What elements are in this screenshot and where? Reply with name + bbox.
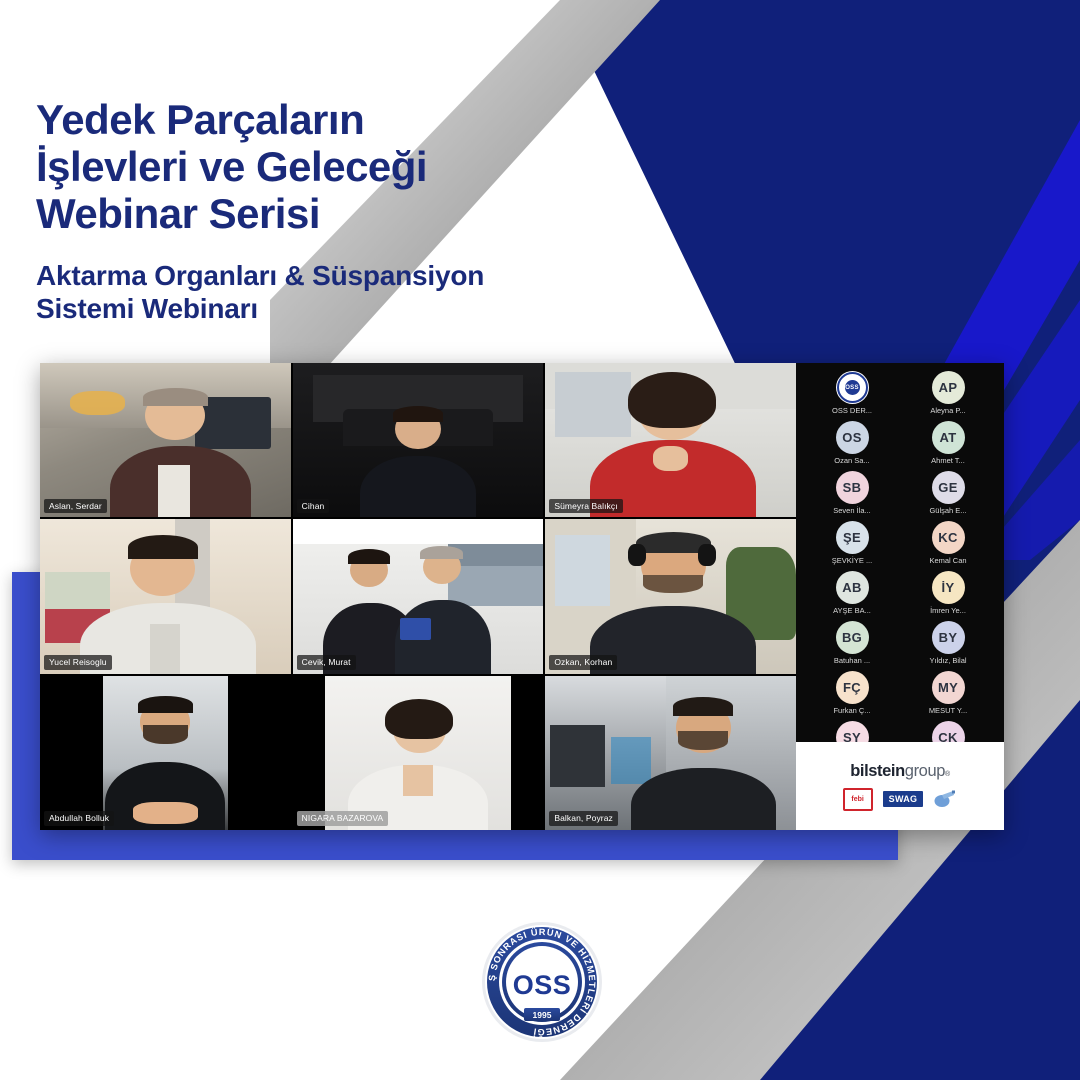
video-tile-grid: Aslan, Serdar Cihan Sümeyra B xyxy=(40,363,796,830)
video-tile[interactable]: Cevik, Murat xyxy=(293,519,544,673)
participant-name: AYŞE BA... xyxy=(833,606,871,615)
participant-name: OSS DER... xyxy=(832,406,872,415)
tile-name-label: Sümeyra Balıkçı xyxy=(549,499,622,514)
participant-name: İmren Ye... xyxy=(930,606,966,615)
oss-association-logo: OTOMOTİV SATIŞ SONRASI ÜRÜN VE HİZMETLER… xyxy=(480,920,604,1044)
participant-avatar: GE xyxy=(932,471,965,504)
participant-item[interactable]: BGBatuhan ... xyxy=(804,621,900,669)
participant-name: Ahmet T... xyxy=(931,456,965,465)
tile-scene xyxy=(545,519,796,673)
oss-avatar-ring: OSS xyxy=(837,372,868,403)
video-tile[interactable]: Cihan xyxy=(293,363,544,517)
tile-scene xyxy=(40,676,291,830)
video-tile[interactable]: Aslan, Serdar xyxy=(40,363,291,517)
participant-name: Yıldız, Bilal xyxy=(929,656,966,665)
tile-name-label: Yucel Reisoglu xyxy=(44,655,112,670)
participant-avatar: AB xyxy=(836,571,869,604)
participant-item[interactable]: ŞEŞEVKİYE ... xyxy=(804,521,900,569)
participant-name: Ozan Sa... xyxy=(834,456,869,465)
tile-name-label: Cevik, Murat xyxy=(297,655,356,670)
title-block: Yedek Parçaların İşlevleri ve Geleceği W… xyxy=(36,96,636,325)
participant-item[interactable]: OSOzan Sa... xyxy=(804,421,900,469)
oss-year-text: 1995 xyxy=(533,1010,552,1020)
participant-name: Aleyna P... xyxy=(930,406,965,415)
tile-scene xyxy=(293,363,544,517)
participant-avatar: KC xyxy=(932,521,965,554)
participant-item[interactable]: SBSeven İla... xyxy=(804,471,900,519)
participant-item[interactable]: BYYıldız, Bilal xyxy=(900,621,996,669)
video-meeting-window: Aslan, Serdar Cihan Sümeyra B xyxy=(40,363,1004,830)
participant-name: Batuhan ... xyxy=(834,656,870,665)
participant-item[interactable]: GEGülşah E... xyxy=(900,471,996,519)
participant-item[interactable]: OSSOSS DER... xyxy=(804,371,900,419)
swag-logo: SWAG xyxy=(883,791,924,807)
participant-item[interactable]: ABAYŞE BA... xyxy=(804,571,900,619)
participant-avatar: AT xyxy=(932,421,965,454)
tile-name-label: Ozkan, Korhan xyxy=(549,655,617,670)
oss-center-text: OSS xyxy=(513,970,572,1000)
participant-avatar: İY xyxy=(932,571,965,604)
participant-item[interactable]: APAleyna P... xyxy=(900,371,996,419)
tile-name-label: Aslan, Serdar xyxy=(44,499,107,514)
participant-name: Kemal Can xyxy=(929,556,966,565)
tile-scene xyxy=(293,519,544,673)
tile-name-label: NIGARA BAZAROVA xyxy=(297,811,389,826)
participant-avatar: BY xyxy=(932,621,965,654)
tile-name-label: Cihan xyxy=(297,499,330,514)
video-tile[interactable]: NIGARA BAZAROVA xyxy=(293,676,544,830)
blue-print-logo xyxy=(933,790,957,808)
participant-avatar: ŞE xyxy=(836,521,869,554)
page-subtitle: Aktarma Organları & Süspansiyon Sistemi … xyxy=(36,259,636,325)
video-tile[interactable]: Ozkan, Korhan xyxy=(545,519,796,673)
sponsor-logo-block: bilsteingroup® febi SWAG xyxy=(796,742,1004,830)
participant-name: MESUT Y... xyxy=(929,706,967,715)
tile-scene xyxy=(293,676,544,830)
group-wordmark: group xyxy=(905,762,945,781)
participants-rail[interactable]: OSSOSS DER...APAleyna P...OSOzan Sa...AT… xyxy=(796,363,1004,830)
tile-name-label: Balkan, Poyraz xyxy=(549,811,618,826)
febi-logo: febi xyxy=(843,788,873,811)
participant-avatar: FÇ xyxy=(836,671,869,704)
oss-avatar-core: OSS xyxy=(845,380,860,395)
participant-item[interactable]: ATAhmet T... xyxy=(900,421,996,469)
participant-avatar: AP xyxy=(932,371,965,404)
bilstein-group-logo: bilsteingroup® xyxy=(850,762,950,781)
participant-name: ŞEVKİYE ... xyxy=(832,556,872,565)
participant-name: Gülşah E... xyxy=(929,506,966,515)
tile-scene xyxy=(40,363,291,517)
bilstein-wordmark: bilstein xyxy=(850,762,905,781)
participant-item[interactable]: FÇFurkan Ç... xyxy=(804,671,900,719)
sub-brand-logos: febi SWAG xyxy=(843,788,958,811)
tile-scene xyxy=(545,676,796,830)
video-tile[interactable]: Abdullah Bolluk xyxy=(40,676,291,830)
participant-item[interactable]: İYİmren Ye... xyxy=(900,571,996,619)
tile-scene xyxy=(40,519,291,673)
video-tile[interactable]: Balkan, Poyraz xyxy=(545,676,796,830)
participant-avatar: OS xyxy=(836,421,869,454)
participant-avatar: BG xyxy=(836,621,869,654)
registered-mark: ® xyxy=(945,771,950,778)
participant-name: Furkan Ç... xyxy=(833,706,870,715)
participant-avatar: SB xyxy=(836,471,869,504)
participant-avatar: MY xyxy=(932,671,965,704)
tile-name-label: Abdullah Bolluk xyxy=(44,811,114,826)
participant-item[interactable]: MYMESUT Y... xyxy=(900,671,996,719)
page-title: Yedek Parçaların İşlevleri ve Geleceği W… xyxy=(36,96,636,237)
video-tile[interactable]: Yucel Reisoglu xyxy=(40,519,291,673)
participant-item[interactable]: KCKemal Can xyxy=(900,521,996,569)
participant-name: Seven İla... xyxy=(833,506,871,515)
tile-scene xyxy=(545,363,796,517)
video-tile[interactable]: Sümeyra Balıkçı xyxy=(545,363,796,517)
oss-avatar-icon: OSS xyxy=(836,371,869,404)
